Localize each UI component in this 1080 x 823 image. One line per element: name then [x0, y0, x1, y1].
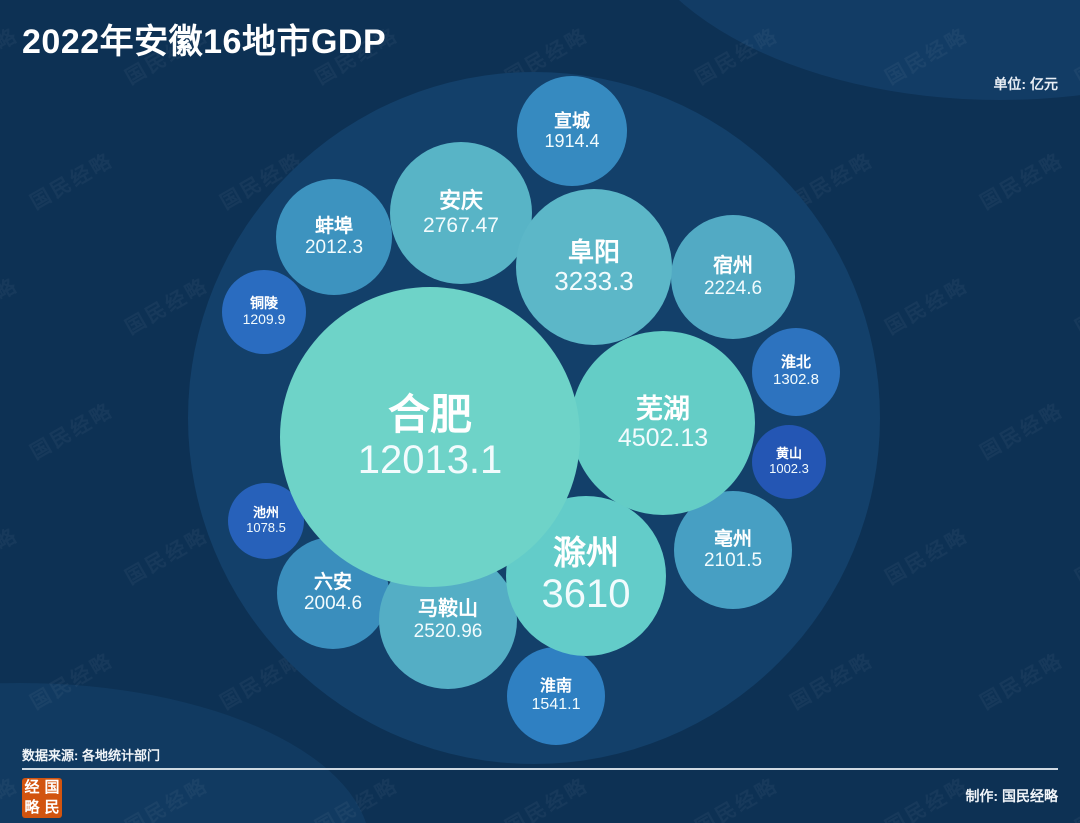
bubble-chart: 合肥12013.1芜湖4502.13滁州3610阜阳3233.3安庆2767.4… — [0, 0, 1080, 823]
brand-logo-char: 国 — [44, 781, 59, 796]
bubble-合肥[interactable]: 合肥12013.1 — [280, 287, 580, 587]
bubble-淮南[interactable]: 淮南1541.1 — [507, 647, 605, 745]
bubble-label-name: 阜阳 — [568, 238, 620, 267]
credit-note: 制作: 国民经略 — [965, 786, 1058, 806]
bubble-label-name: 安庆 — [439, 189, 483, 214]
bubble-蚌埠[interactable]: 蚌埠2012.3 — [276, 179, 392, 295]
bubble-label-value: 3610 — [542, 572, 631, 617]
bubble-label-name: 马鞍山 — [418, 598, 478, 620]
bubble-芜湖[interactable]: 芜湖4502.13 — [571, 331, 755, 515]
brand-logo-char: 经 — [24, 781, 39, 796]
bubble-阜阳[interactable]: 阜阳3233.3 — [516, 189, 672, 345]
bubble-安庆[interactable]: 安庆2767.47 — [390, 142, 532, 284]
bubble-label-value: 3233.3 — [554, 267, 634, 296]
bubble-label-value: 2004.6 — [304, 593, 362, 614]
bubble-label-name: 亳州 — [714, 529, 752, 550]
data-source-note: 数据来源: 各地统计部门 — [22, 745, 160, 764]
bubble-label-value: 2101.5 — [704, 550, 762, 571]
bubble-label-value: 2224.6 — [704, 278, 762, 299]
brand-logo-char: 略 — [24, 801, 39, 816]
bubble-label-value: 2520.96 — [414, 621, 483, 642]
bubble-label-value: 1002.3 — [769, 462, 809, 477]
bubble-label-value: 1209.9 — [243, 312, 286, 328]
bubble-label-name: 芜湖 — [636, 394, 690, 424]
bubble-label-value: 1914.4 — [544, 131, 599, 151]
bubble-label-name: 宿州 — [713, 255, 753, 277]
bubble-label-value: 1078.5 — [246, 521, 286, 536]
bubble-label-name: 合肥 — [388, 391, 472, 438]
brand-logo: 经国略民 — [22, 778, 62, 818]
bubble-黄山[interactable]: 黄山1002.3 — [752, 425, 826, 499]
bubble-label-name: 六安 — [314, 572, 352, 593]
footer-divider — [22, 768, 1058, 770]
bubble-铜陵[interactable]: 铜陵1209.9 — [222, 270, 306, 354]
bubble-label-name: 黄山 — [776, 447, 802, 462]
bubble-label-name: 淮北 — [781, 355, 811, 372]
bubble-label-name: 滁州 — [553, 535, 619, 572]
bubble-淮北[interactable]: 淮北1302.8 — [752, 328, 840, 416]
bubble-label-value: 2767.47 — [423, 214, 499, 238]
bubble-label-name: 蚌埠 — [315, 216, 353, 237]
bubble-label-name: 池州 — [253, 506, 279, 521]
bubble-label-name: 宣城 — [554, 111, 590, 131]
bubble-label-value: 2012.3 — [305, 237, 363, 258]
bubble-label-value: 12013.1 — [358, 438, 503, 483]
bubble-label-value: 4502.13 — [618, 424, 708, 452]
infographic-page: 国民经略国民经略国民经略国民经略国民经略国民经略国民经略国民经略国民经略国民经略… — [0, 0, 1080, 823]
bubble-label-value: 1541.1 — [532, 696, 581, 714]
brand-logo-char: 民 — [44, 801, 59, 816]
bubble-宿州[interactable]: 宿州2224.6 — [671, 215, 795, 339]
bubble-label-value: 1302.8 — [773, 372, 819, 389]
bubble-宣城[interactable]: 宣城1914.4 — [517, 76, 627, 186]
bubble-label-name: 铜陵 — [250, 296, 278, 312]
bubble-label-name: 淮南 — [540, 678, 572, 696]
